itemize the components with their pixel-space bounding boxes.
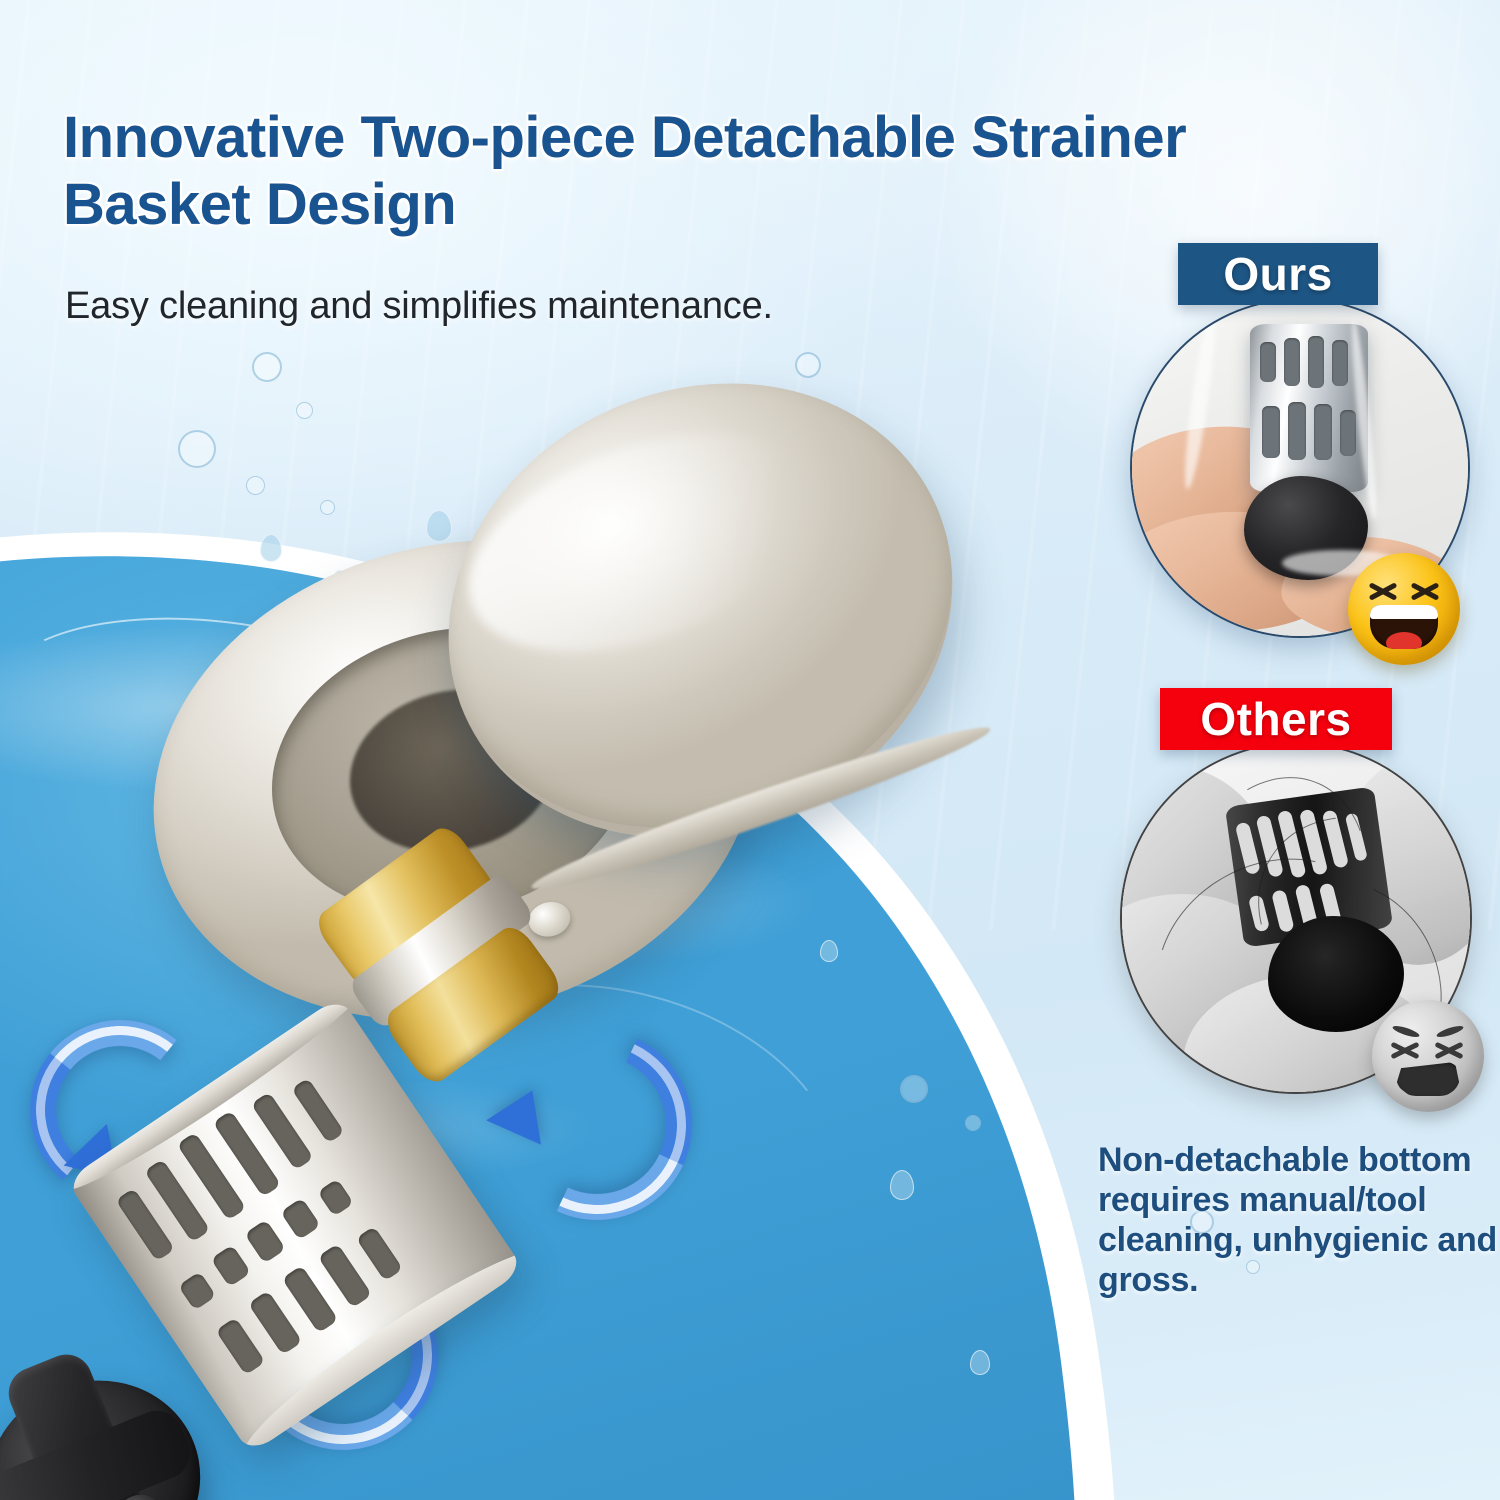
distressed-emoji [1372,1000,1484,1112]
emoji-mouth [1396,1062,1460,1096]
product-exploded-view [0,330,1020,1500]
badge-ours: Ours [1178,243,1378,305]
cap-highlight [444,394,840,692]
page-subtitle: Easy cleaning and simplifies maintenance… [65,285,965,328]
laughing-emoji [1348,553,1460,665]
page-title: Innovative Two-piece Detachable Strainer… [63,104,1193,239]
product-infographic: Innovative Two-piece Detachable Strainer… [0,0,1500,1500]
chrome-strainer-basket [1250,324,1368,492]
badge-others: Others [1160,688,1392,750]
emoji-mouth [1370,605,1438,649]
others-caption: Non-detachable bottom requires manual/to… [1098,1140,1498,1300]
cap-edge [527,713,995,903]
